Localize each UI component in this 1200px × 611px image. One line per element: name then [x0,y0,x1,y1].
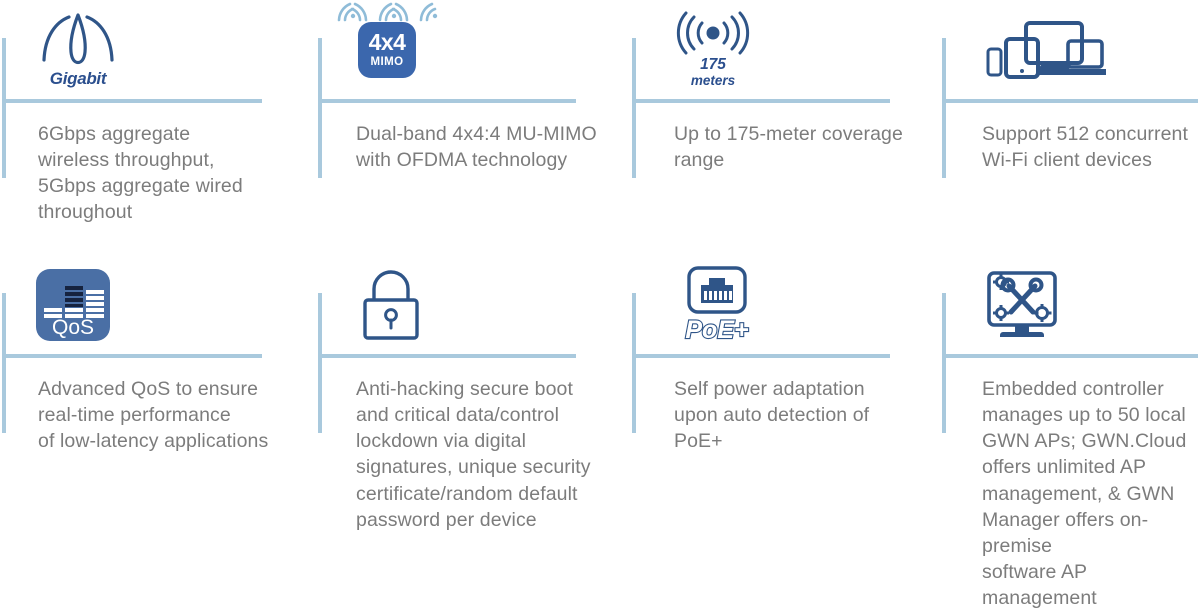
cell-horizontal-rule [632,99,890,103]
feature-cell-poe: PoE+ Self power adaptation upon auto det… [630,255,940,526]
feature-description: Dual-band 4x4:4 MU-MIMO with OFDMA techn… [330,99,608,173]
feature-description: Embedded controller manages up to 50 loc… [960,354,1200,611]
mimo-badge: 4x4 MIMO [358,22,416,78]
icon-area: QoS [20,255,310,354]
feature-cell-security: Anti-hacking secure boot and critical da… [310,255,630,526]
rj45-port-glyph [685,265,749,315]
icon-area [960,0,1200,99]
embedded-controller-icon [984,269,1060,341]
poe-plus-icon: PoE+ [676,265,758,345]
qos-equalizer-badge-icon: QoS [36,269,110,341]
cell-vertical-rule [318,293,322,433]
icon-area: 4x4 MIMO [330,0,630,99]
gigabit-glyph [36,12,120,70]
feature-description: Support 512 concurrent Wi-Fi client devi… [960,99,1200,173]
wifi-waves-icon [333,0,441,22]
feature-cell-mimo: 4x4 MIMO Dual-band 4x4:4 MU-MIMO with OF… [310,0,630,255]
cell-vertical-rule [318,38,322,178]
signal-waves-glyph [676,11,750,57]
mimo-badge-big-text: 4x4 [369,31,406,54]
icon-area [960,255,1200,354]
feature-description: Up to 175-meter coverage range [650,99,936,173]
cell-vertical-rule [942,293,946,433]
cell-vertical-rule [2,293,6,433]
cell-horizontal-rule [942,354,1198,358]
cell-horizontal-rule [632,354,890,358]
feature-cell-controller: Embedded controller manages up to 50 loc… [940,255,1200,526]
feature-grid: Gigabit 6Gbps aggregate wireless through… [0,0,1200,526]
signal-range-icon: 175 meters [676,11,750,87]
gigabit-throughput-icon: Gigabit [36,12,120,88]
cell-horizontal-rule [2,99,262,103]
feature-description: Self power adaptation upon auto detectio… [650,354,936,454]
coverage-unit-label: meters [691,74,735,88]
feature-cell-clients: Support 512 concurrent Wi-Fi client devi… [940,0,1200,255]
cell-vertical-rule [942,38,946,178]
feature-cell-qos: QoS Advanced QoS to ensure real-time per… [0,255,310,526]
padlock-icon [358,268,424,342]
cell-vertical-rule [632,293,636,433]
mimo-badge-small-text: MIMO [371,57,404,69]
cell-horizontal-rule [318,354,576,358]
qos-badge-label: QoS [36,317,110,338]
cell-vertical-rule [2,38,6,178]
cell-horizontal-rule [942,99,1198,103]
icon-area: PoE+ [650,255,940,354]
cell-vertical-rule [632,38,636,178]
cell-horizontal-rule [2,354,262,358]
feature-description: 6Gbps aggregate wireless throughput, 5Gb… [20,99,300,226]
multi-device-icon [984,19,1106,81]
icon-area: 175 meters [650,0,940,99]
coverage-value-label: 175 [700,57,726,73]
4x4-mimo-badge-icon: 4x4 MIMO [358,22,416,78]
icon-area: Gigabit [20,0,310,99]
gigabit-icon-label: Gigabit [50,70,106,88]
icon-area [330,255,630,354]
cell-horizontal-rule [318,99,576,103]
poe-plus-wordmark: PoE+ [676,315,758,345]
feature-cell-gigabit: Gigabit 6Gbps aggregate wireless through… [0,0,310,255]
svg-text:PoE+: PoE+ [685,316,749,344]
feature-description: Anti-hacking secure boot and critical da… [330,354,608,533]
feature-description: Advanced QoS to ensure real-time perform… [20,354,300,454]
feature-cell-coverage: 175 meters Up to 175-meter coverage rang… [630,0,940,255]
